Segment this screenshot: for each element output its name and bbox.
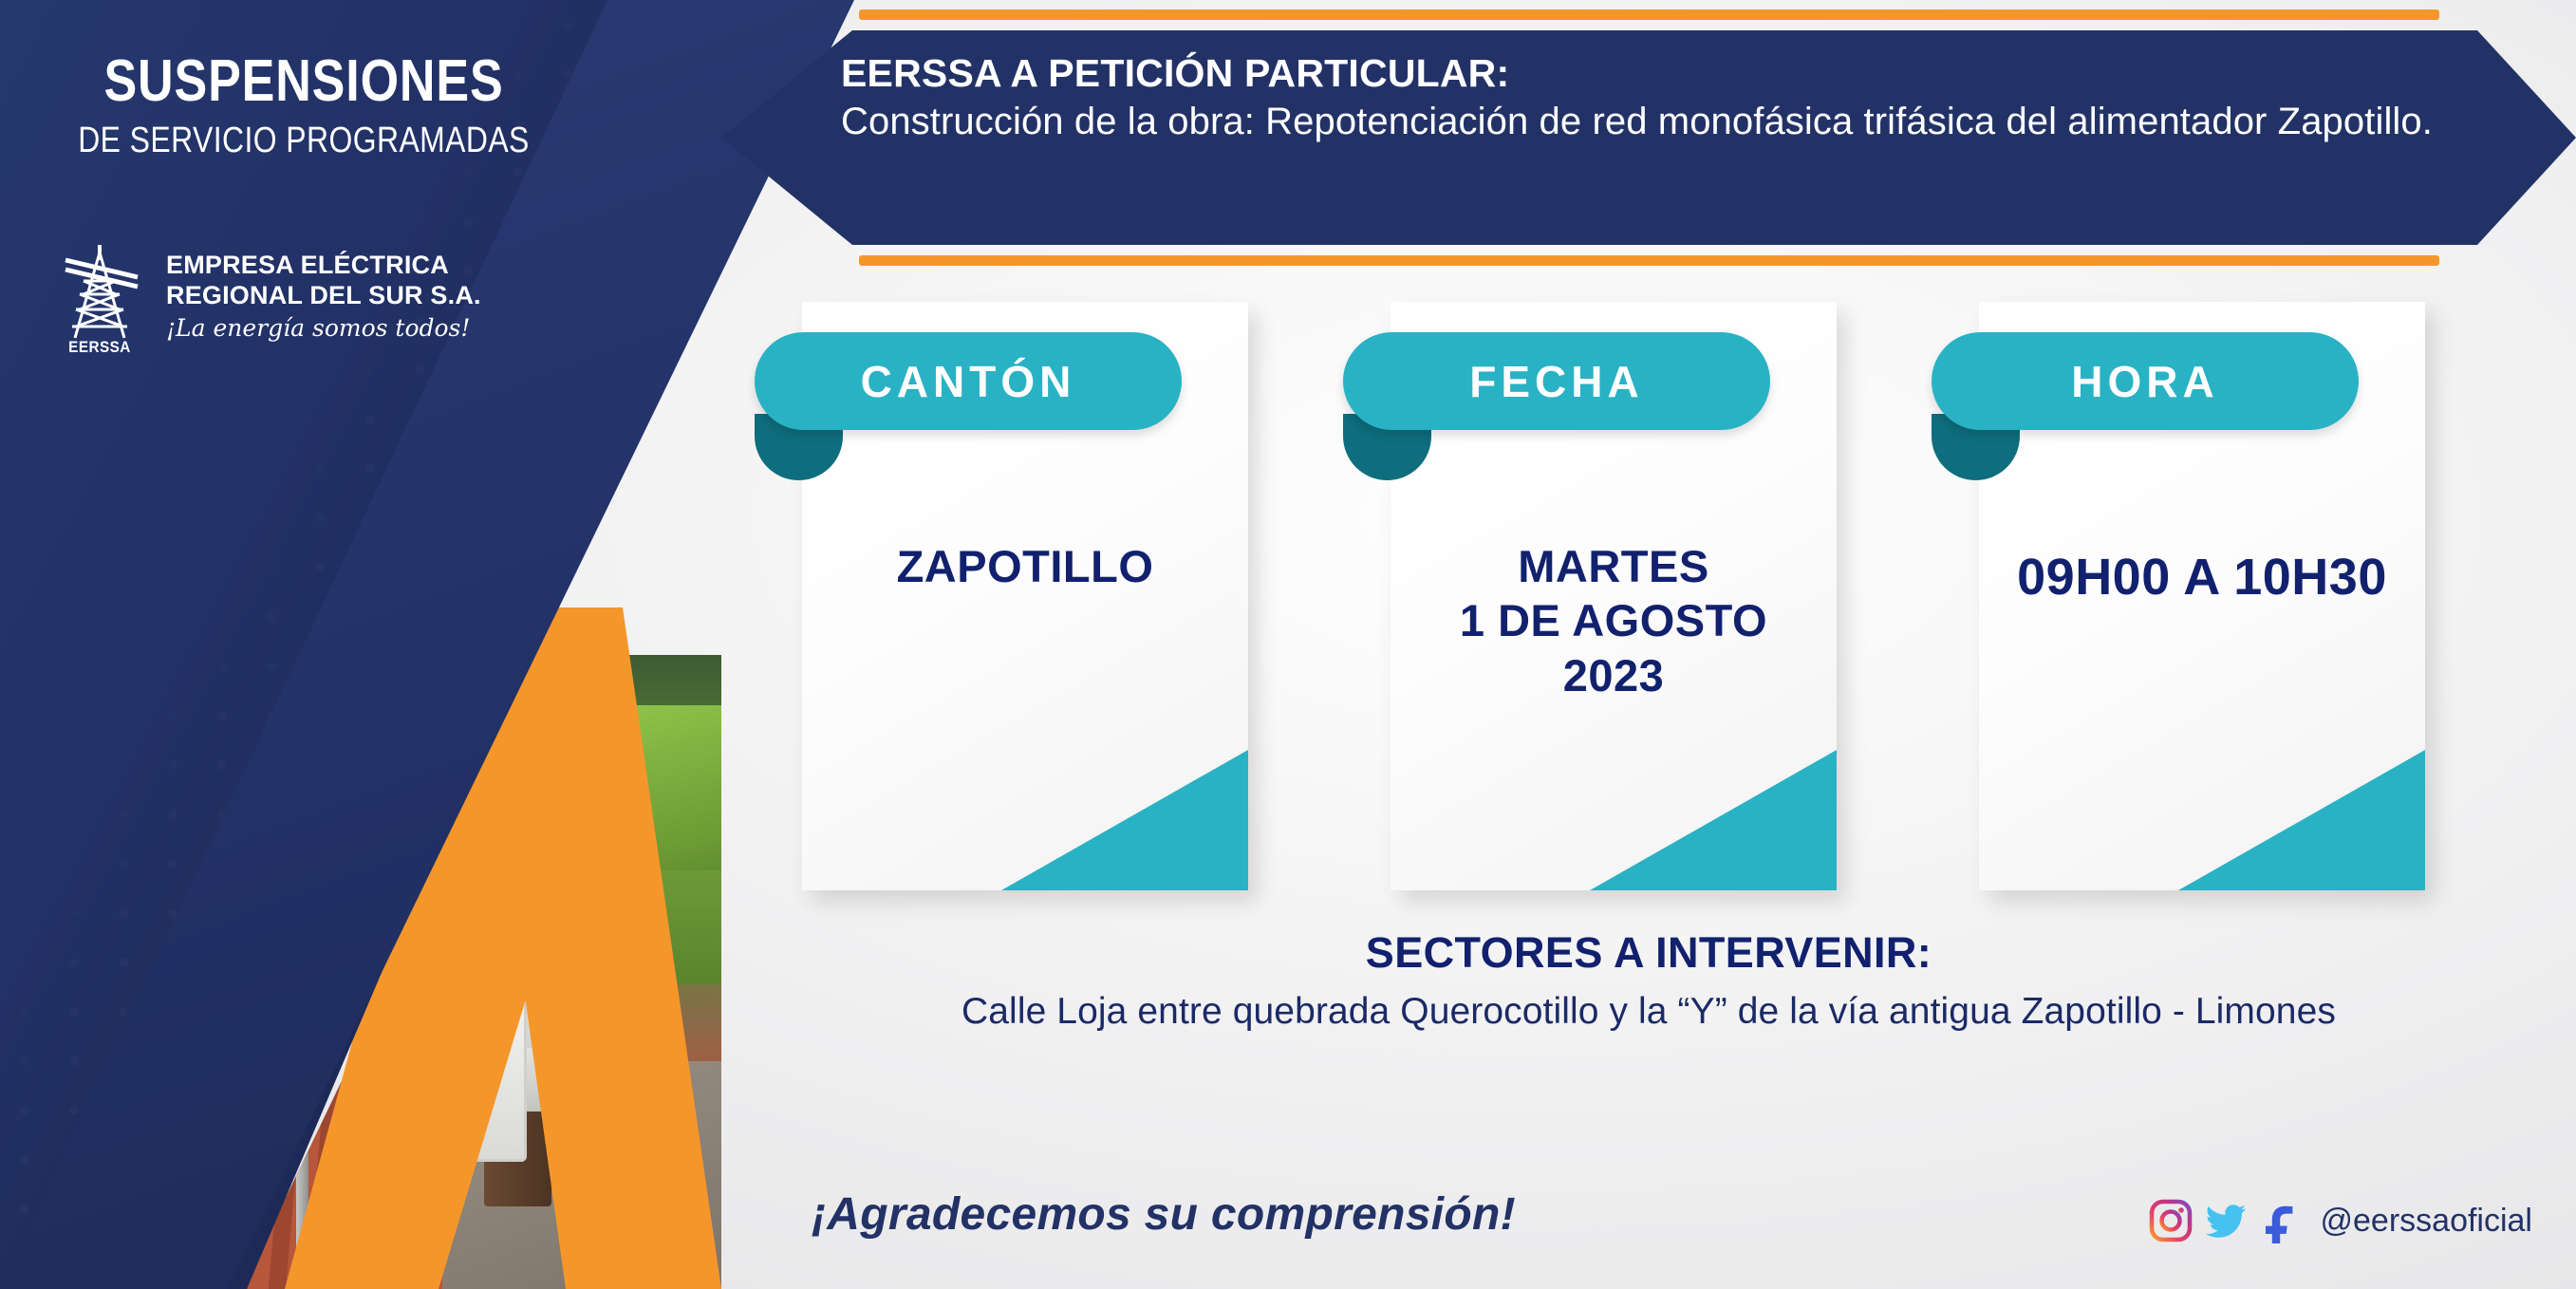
logo-mark-label: EERSSA: [68, 338, 131, 357]
sectors-title: SECTORES A INTERVENIR:: [721, 928, 2576, 978]
card-fecha-tab: FECHA: [1343, 332, 1770, 430]
info-cards: CANTÓN ZAPOTILLO FECHA MARTES 1 DE AGOST…: [0, 302, 2576, 890]
card-hora-tab: HORA: [1932, 332, 2359, 430]
header-banner: EERSSA A PETICIÓN PARTICULAR: Construcci…: [721, 9, 2576, 266]
card-hora-value: 09H00 A 10H30: [1941, 547, 2463, 609]
sectors-text: Calle Loja entre quebrada Querocotillo y…: [721, 991, 2576, 1033]
facebook-icon[interactable]: [2258, 1198, 2304, 1243]
banner-top-rule: [859, 9, 2439, 20]
instagram-icon[interactable]: [2148, 1198, 2193, 1243]
card-hora-label: HORA: [2071, 356, 2218, 407]
card-corner-accent: [1001, 750, 1248, 890]
card-canton-label: CANTÓN: [861, 356, 1076, 407]
page-title: SUSPENSIONES: [48, 47, 559, 115]
card-corner-accent: [1590, 750, 1837, 890]
card-canton-tab: CANTÓN: [755, 332, 1182, 430]
twitter-icon[interactable]: [2203, 1198, 2249, 1243]
card-canton: CANTÓN ZAPOTILLO: [802, 302, 1248, 890]
banner-title: EERSSA A PETICIÓN PARTICULAR:: [841, 49, 2510, 98]
card-fecha-label: FECHA: [1469, 356, 1643, 407]
company-name-line2: REGIONAL DEL SUR S.A.: [166, 281, 481, 310]
banner-hexagon: EERSSA A PETICIÓN PARTICULAR: Construcci…: [721, 30, 2576, 245]
transmission-tower-icon: EERSSA: [52, 239, 147, 353]
company-tagline: ¡La energía somos todos!: [166, 314, 481, 342]
thanks-message: ¡Agradecemos su comprensión!: [812, 1188, 1516, 1241]
social-links: @eerssaoficial: [2148, 1198, 2533, 1243]
brand-heading: SUSPENSIONES DE SERVICIO PROGRAMADAS: [0, 47, 607, 161]
suspension-notice-poster: SUSPENSIONES DE SERVICIO PROGRAMADAS EER…: [0, 0, 2576, 1289]
card-fecha-value: MARTES 1 DE AGOSTO 2023: [1353, 539, 1875, 702]
banner-description: Construcción de la obra: Repotenciación …: [841, 98, 2510, 145]
social-handle[interactable]: @eerssaoficial: [2321, 1203, 2533, 1240]
page-subtitle: DE SERVICIO PROGRAMADAS: [48, 121, 559, 161]
card-fecha: FECHA MARTES 1 DE AGOSTO 2023: [1391, 302, 1837, 890]
company-logo: EERSSA EMPRESA ELÉCTRICA REGIONAL DEL SU…: [52, 239, 481, 353]
card-corner-accent: [2178, 750, 2425, 890]
company-name-line1: EMPRESA ELÉCTRICA: [166, 251, 481, 280]
banner-bottom-rule: [859, 255, 2439, 266]
sectors-section: SECTORES A INTERVENIR: Calle Loja entre …: [721, 928, 2576, 1033]
card-hora: HORA 09H00 A 10H30: [1979, 302, 2425, 890]
card-canton-value: ZAPOTILLO: [764, 539, 1286, 593]
